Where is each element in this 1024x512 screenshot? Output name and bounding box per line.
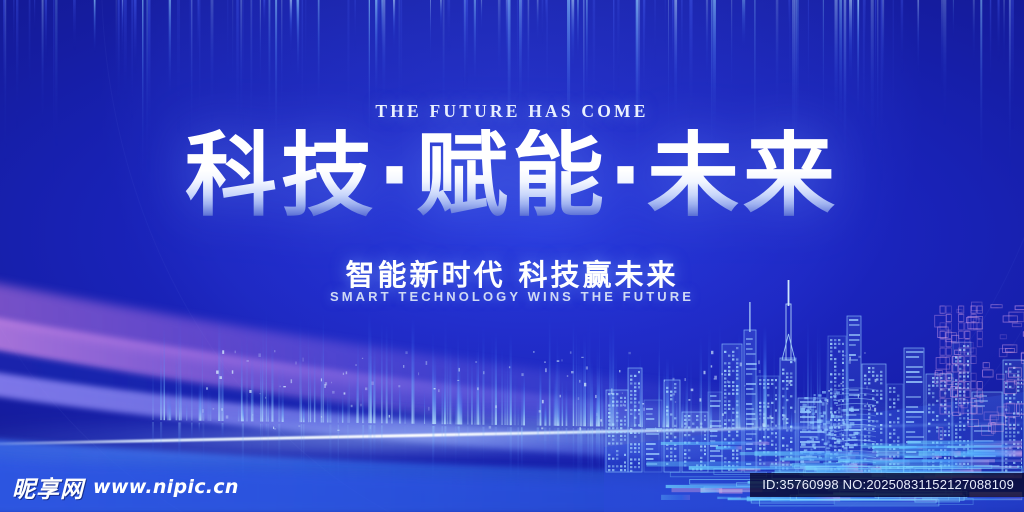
page-title: 科技·赋能·未来: [0, 129, 1024, 223]
site-url: www.nipic.cn: [93, 476, 239, 498]
site-logo: 昵享网: [12, 470, 84, 504]
watermark: 昵享网 www.nipic.cn: [12, 470, 239, 504]
subtitle-english: SMART TECHNOLOGY WINS THE FUTURE: [0, 289, 1024, 304]
poster-canvas: THE FUTURE HAS COME 科技·赋能·未来 智能新时代 科技赢未来…: [0, 0, 1024, 512]
subtitle-chinese: 智能新时代 科技赢未来: [0, 252, 1024, 294]
image-id-tag: ID:35760998 NO:20250831152127088109: [750, 473, 1024, 497]
eyebrow-text: THE FUTURE HAS COME: [0, 101, 1024, 122]
